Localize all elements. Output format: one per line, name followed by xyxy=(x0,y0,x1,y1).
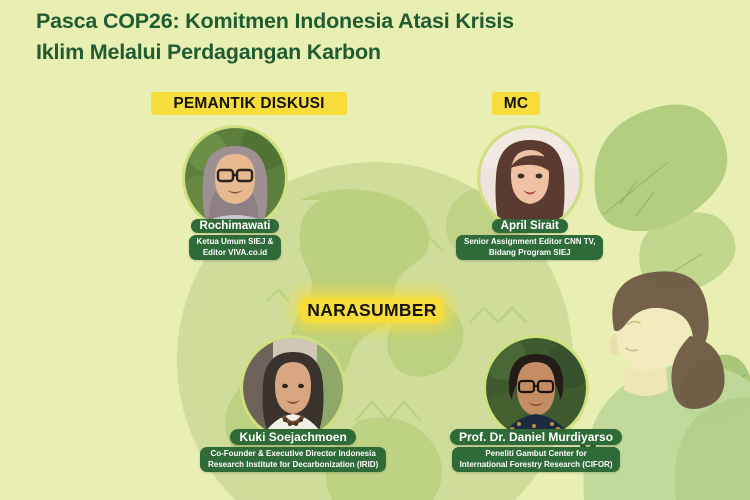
speaker-role-daniel-murdiyarso: Peneliti Gambut Center for International… xyxy=(452,447,621,472)
title-line-1: Pasca COP26: Komitmen Indonesia Atasi Kr… xyxy=(36,6,636,37)
avatar-kuki-soejachmoen xyxy=(243,338,343,438)
role-line-1: Co-Founder & Executive Director Indonesi… xyxy=(208,449,378,460)
speaker-role-rochimawati: Ketua Umum SIEJ & Editor VIVA.co.id xyxy=(189,235,282,260)
speaker-role-kuki-soejachmoen: Co-Founder & Executive Director Indonesi… xyxy=(200,447,386,472)
section-badge-narasumber: NARASUMBER xyxy=(300,297,444,323)
speaker-card-kuki-soejachmoen: Kuki Soejachmoen Co-Founder & Executive … xyxy=(200,338,386,472)
avatar-april-sirait xyxy=(480,128,580,228)
section-badge-pemantik-diskusi: PEMANTIK DISKUSI xyxy=(151,92,347,115)
title-line-2: Iklim Melalui Perdagangan Karbon xyxy=(36,37,636,68)
leaf-decorations-bottom-right xyxy=(681,355,750,426)
leaf-decorations-top-right xyxy=(594,104,735,292)
role-line-1: Peneliti Gambut Center for xyxy=(460,449,613,460)
role-line-2: Research Institute for Decarbonization (… xyxy=(208,460,378,471)
poster-title: Pasca COP26: Komitmen Indonesia Atasi Kr… xyxy=(36,6,636,68)
avatar-daniel-murdiyarso xyxy=(486,338,586,438)
role-line-1: Senior Assignment Editor CNN TV, xyxy=(464,237,595,248)
role-line-2: Editor VIVA.co.id xyxy=(197,248,274,259)
speaker-name-daniel-murdiyarso: Prof. Dr. Daniel Murdiyarso xyxy=(450,429,622,445)
role-line-2: International Forestry Research (CIFOR) xyxy=(460,460,613,471)
speaker-name-april-sirait: April Sirait xyxy=(492,219,568,233)
speaker-card-rochimawati: Rochimawati Ketua Umum SIEJ & Editor VIV… xyxy=(185,128,285,260)
speaker-card-daniel-murdiyarso: Prof. Dr. Daniel Murdiyarso Peneliti Gam… xyxy=(450,338,622,472)
role-line-1: Ketua Umum SIEJ & xyxy=(197,237,274,248)
speaker-card-april-sirait: April Sirait Senior Assignment Editor CN… xyxy=(456,128,603,260)
speaker-role-april-sirait: Senior Assignment Editor CNN TV, Bidang … xyxy=(456,235,603,260)
role-line-2: Bidang Program SIEJ xyxy=(464,248,595,259)
avatar-rochimawati xyxy=(185,128,285,228)
webinar-poster: Pasca COP26: Komitmen Indonesia Atasi Kr… xyxy=(0,0,750,500)
speaker-name-kuki-soejachmoen: Kuki Soejachmoen xyxy=(230,429,355,445)
section-badge-mc: MC xyxy=(492,92,540,115)
speaker-name-rochimawati: Rochimawati xyxy=(191,219,280,233)
